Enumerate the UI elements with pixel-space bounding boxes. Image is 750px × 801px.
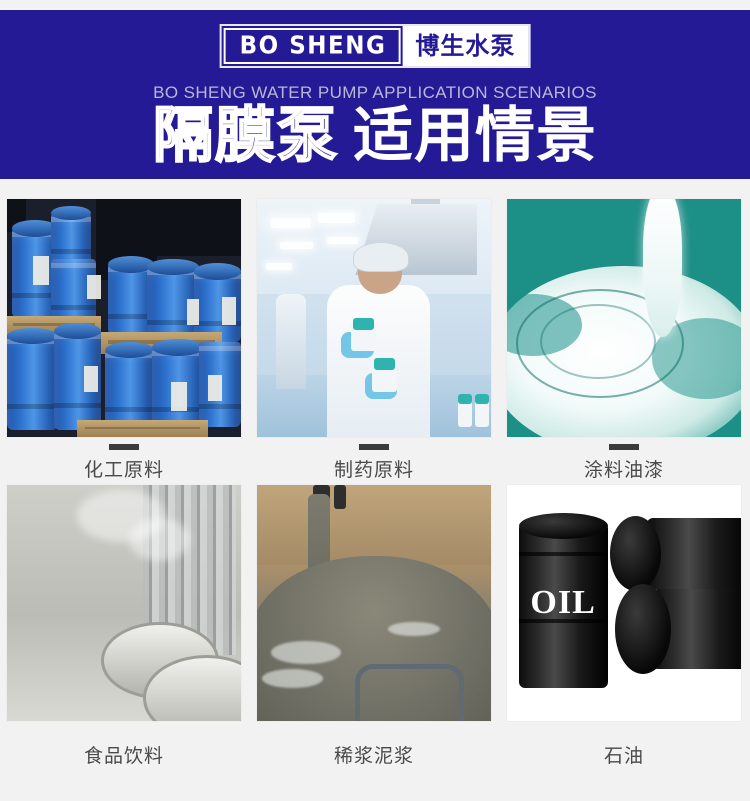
caption-text: 制药原料: [334, 455, 414, 482]
caption-dash-icon: [359, 444, 389, 450]
scenario-image-food[interactable]: [6, 484, 242, 722]
oil-barrels-illustration: OIL: [507, 485, 741, 721]
scenario-cell-pharmaceutical[interactable]: 制药原料: [256, 198, 492, 484]
paint-swirl-illustration: [507, 199, 741, 437]
scenario-caption-chemical: 化工原料: [6, 438, 242, 484]
brand-logo-chinese-text: 博生水泵: [415, 34, 515, 58]
scenario-cell-food[interactable]: 食品饮料: [6, 484, 242, 768]
caption-text: 食品饮料: [84, 741, 164, 768]
brand-logo-english-text: BO SHENG: [240, 33, 387, 58]
oil-barrel-label: OIL: [530, 584, 595, 622]
scenario-caption-oil: 石油: [506, 722, 742, 768]
caption-text: 涂料油漆: [584, 455, 664, 482]
caption-dash-icon: [609, 444, 639, 450]
scenario-caption-paint: 涂料油漆: [506, 438, 742, 484]
scenario-cell-slurry[interactable]: 稀浆泥浆: [256, 484, 492, 768]
headline-solid-text: 适用情景: [353, 101, 597, 171]
product-banner-page: BO SHENG 博生水泵 BO SHENG WATER PUMP APPLIC…: [0, 0, 750, 801]
header-banner: BO SHENG 博生水泵 BO SHENG WATER PUMP APPLIC…: [0, 10, 750, 179]
scenario-image-paint[interactable]: [506, 198, 742, 438]
banner-headline: 隔膜泵适用情景: [0, 106, 750, 166]
brand-logo-english-box: BO SHENG: [224, 28, 401, 64]
caption-text: 化工原料: [84, 455, 164, 482]
food-factory-illustration: [7, 485, 241, 721]
caption-dash-icon: [109, 444, 139, 450]
slurry-tank-illustration: [257, 485, 491, 721]
scenario-image-slurry[interactable]: [256, 484, 492, 722]
banner-subtitle: BO SHENG WATER PUMP APPLICATION SCENARIO…: [0, 83, 750, 103]
chemical-drums-illustration: [7, 199, 241, 437]
scenario-caption-pharmaceutical: 制药原料: [256, 438, 492, 484]
scenario-cell-oil[interactable]: OIL 石油: [506, 484, 742, 768]
application-scenario-grid: 化工原料: [6, 198, 744, 768]
scenario-image-oil[interactable]: OIL: [506, 484, 742, 722]
scenario-image-pharmaceutical[interactable]: [256, 198, 492, 438]
scenario-caption-food: 食品饮料: [6, 722, 242, 768]
pharma-lab-illustration: [257, 199, 491, 437]
brand-logo-chinese-box: 博生水泵: [402, 26, 528, 66]
scenario-cell-paint[interactable]: 涂料油漆: [506, 198, 742, 484]
caption-text: 稀浆泥浆: [334, 741, 414, 768]
scenario-cell-chemical[interactable]: 化工原料: [6, 198, 242, 484]
caption-text: 石油: [604, 741, 644, 768]
headline-outline-text: 隔膜泵: [153, 101, 339, 171]
scenario-image-chemical[interactable]: [6, 198, 242, 438]
brand-logo: BO SHENG 博生水泵: [220, 24, 531, 68]
scenario-caption-slurry: 稀浆泥浆: [256, 722, 492, 768]
